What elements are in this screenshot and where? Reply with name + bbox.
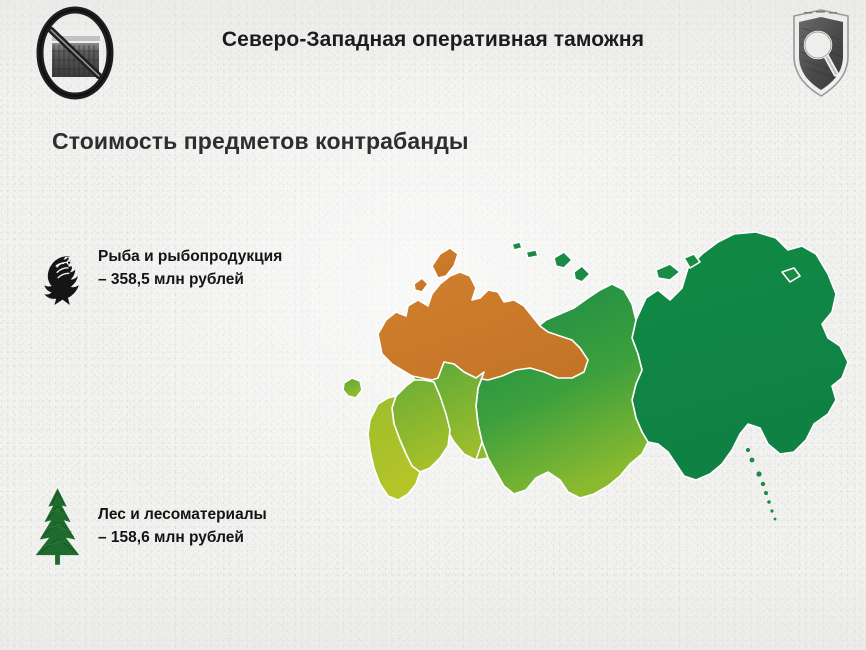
slide-canvas: Северо-Западная оперативная таможня [0,0,866,650]
shield-magnifier-icon [786,4,856,102]
fish-icon [22,234,94,318]
stat-item-tobacco: Табак и табачная продукция – 171,9 млн р… [0,484,420,612]
prohibition-sign-icon [26,6,124,100]
section-subtitle: Стоимость предметов контрабанды [52,128,469,155]
stat-item-wood: Лес и лесоматериалы – 158,6 млн рублей [0,356,420,484]
map-island-nz-small-b [526,250,538,258]
map-island-severnaya-zemlya-a [554,252,572,268]
page-title: Северо-Западная оперативная таможня [150,28,716,52]
stat-text-fish: Рыба и рыбопродукция – 358,5 млн рублей [98,246,282,292]
stat-value-fish: – 358,5 млн рублей [98,269,282,292]
header-band: Северо-Западная оперативная таможня [0,0,866,104]
map-island-severnaya-zemlya-b [574,266,590,282]
contraband-stats-list: Рыба и рыбопродукция – 358,5 млн рублей [0,228,420,612]
map-island-nz-small-a [512,242,522,250]
map-islands-kuril [746,448,776,520]
stat-label-fish: Рыба и рыбопродукция [98,246,282,269]
stat-item-fish: Рыба и рыбопродукция – 358,5 млн рублей [0,228,420,356]
map-island-new-siberian-a [656,264,680,280]
